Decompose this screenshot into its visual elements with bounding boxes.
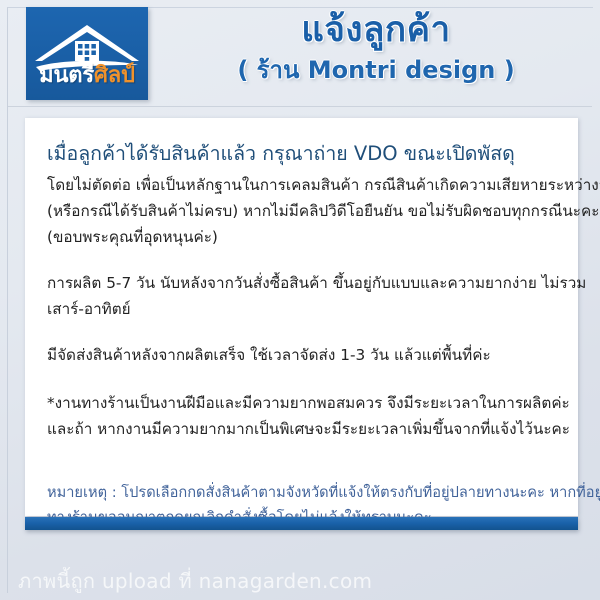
announcement-card: เมื่อลูกค้าได้รับสินค้าแล้ว กรุณาถ่าย VD… — [25, 118, 578, 516]
footnote-line: หมายเหตุ : โปรดเลือกกดสั่งสินค้าตามจังหว… — [47, 480, 558, 505]
paragraph-line: การผลิต 5-7 วัน นับหลังจากวันสั่งซื้อสิน… — [47, 270, 558, 296]
watermark-text: ภาพนี้ถูก upload ที่ nanagarden.com — [18, 569, 372, 593]
page-header: มนตรีศิลป์ แจ้งลูกค้า ( ร้าน Montri desi… — [0, 0, 600, 107]
spacer — [47, 442, 558, 480]
paragraph-production-time: การผลิต 5-7 วัน นับหลังจากวันสั่งซื้อสิน… — [47, 270, 558, 322]
spacer — [47, 368, 558, 390]
header-divider — [8, 106, 592, 107]
logo-name-primary: มนตรี — [39, 63, 94, 88]
header-title-block: แจ้งลูกค้า ( ร้าน Montri design ) — [160, 6, 592, 85]
shop-logo: มนตรีศิลป์ — [26, 7, 148, 100]
paragraph-line: เสาร์-อาทิตย์ — [47, 296, 558, 322]
paragraph-line: มีจัดส่งสินค้าหลังจากผลิตเสร็จ ใช้เวลาจั… — [47, 342, 558, 368]
spacer — [47, 250, 558, 270]
paragraph-line: และถ้า หากงานมีความยากมากเป็นพิเศษจะมีระ… — [47, 416, 558, 442]
paragraph-line: (ขอบพระคุณที่อุดหนุนค่ะ) — [47, 224, 558, 250]
lead-statement: เมื่อลูกค้าได้รับสินค้าแล้ว กรุณาถ่าย VD… — [47, 140, 558, 168]
paragraph-handmade-note: *งานทางร้านเป็นงานฝีมือและมีความยากพอสมค… — [47, 390, 558, 442]
paragraph-line: *งานทางร้านเป็นงานฝีมือและมีความยากพอสมค… — [47, 390, 558, 416]
page-title: แจ้งลูกค้า — [160, 6, 592, 54]
page-subtitle: ( ร้าน Montri design ) — [160, 55, 592, 85]
spacer — [47, 322, 558, 342]
paragraph-line: โดยไม่ตัดต่อ เพื่อเป็นหลักฐานในการเคลมสิ… — [47, 172, 558, 198]
paragraph-video-evidence: โดยไม่ตัดต่อ เพื่อเป็นหลักฐานในการเคลมสิ… — [47, 172, 558, 250]
card-bottom-bar — [25, 517, 578, 530]
logo-name-accent: ศิลป์ — [94, 63, 135, 88]
paragraph-shipping-time: มีจัดส่งสินค้าหลังจากผลิตเสร็จ ใช้เวลาจั… — [47, 342, 558, 368]
paragraph-line: (หรือกรณีได้รับสินค้าไม่ครบ) หากไม่มีคลิ… — [47, 198, 558, 224]
